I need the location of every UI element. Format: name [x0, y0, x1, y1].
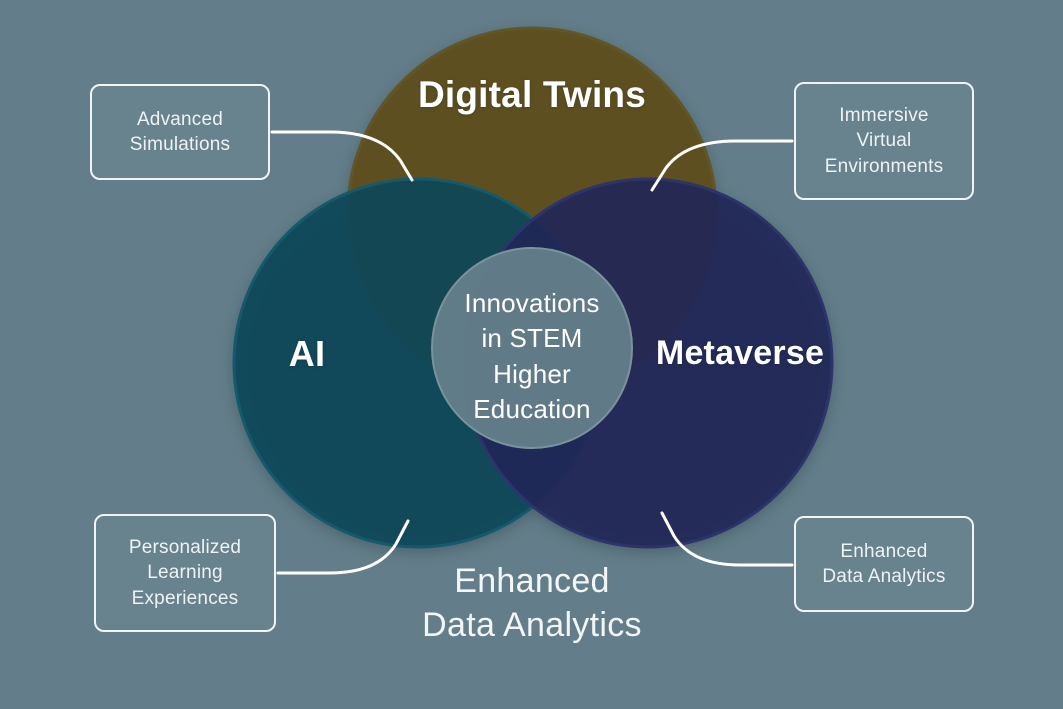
callout-line: Advanced [130, 107, 230, 132]
venn-diagram-canvas: Digital Twins AI Metaverse Innovations i… [0, 0, 1063, 709]
callout-line: Environments [825, 154, 944, 179]
callout-personalized-learning-experiences-text: Personalized Learning Experiences [129, 535, 241, 611]
callout-immersive-virtual-environments-text: Immersive Virtual Environments [825, 103, 944, 179]
callout-line: Immersive [825, 103, 944, 128]
callout-advanced-simulations[interactable]: Advanced Simulations [90, 84, 270, 180]
circle-center-core[interactable] [432, 248, 632, 448]
callout-line: Simulations [130, 132, 230, 157]
callout-enhanced-data-analytics-text: Enhanced Data Analytics [822, 539, 945, 590]
callout-line: Learning [129, 560, 241, 585]
callout-enhanced-data-analytics[interactable]: Enhanced Data Analytics [794, 516, 974, 612]
callout-line: Personalized [129, 535, 241, 560]
callout-immersive-virtual-environments[interactable]: Immersive Virtual Environments [794, 82, 974, 200]
callout-line: Data Analytics [822, 564, 945, 589]
callout-line: Experiences [129, 586, 241, 611]
callout-advanced-simulations-text: Advanced Simulations [130, 107, 230, 158]
callout-line: Virtual [825, 128, 944, 153]
callout-line: Enhanced [822, 539, 945, 564]
callout-personalized-learning-experiences[interactable]: Personalized Learning Experiences [94, 514, 276, 632]
